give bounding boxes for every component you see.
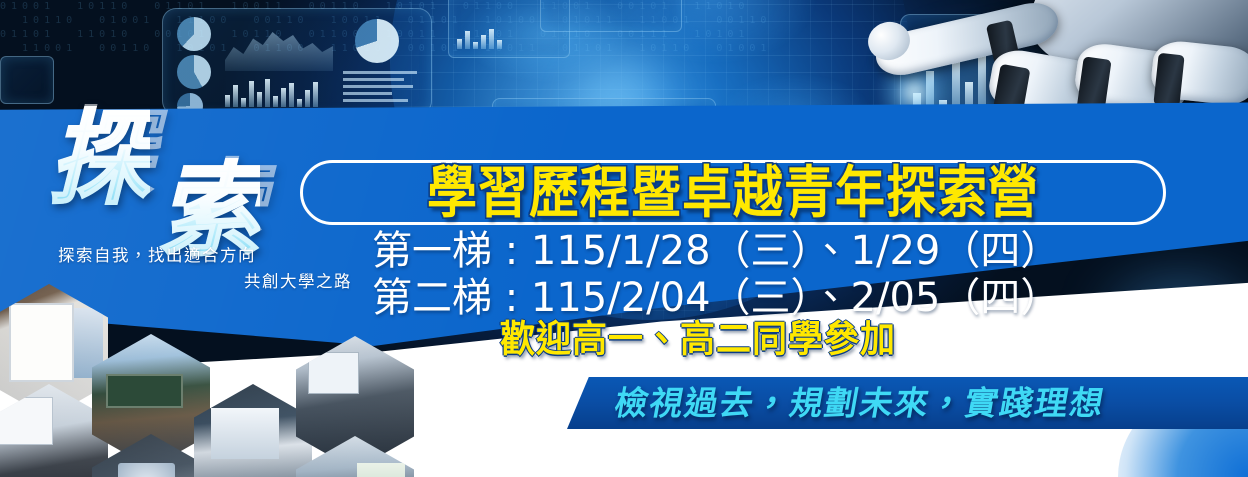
session-line-2: 第二梯 : 115/2/04（三）、2/05（四）	[372, 275, 1172, 322]
pie-chart-icon	[177, 55, 211, 89]
session-line-1: 第一梯 : 115/1/28（三）、1/29（四）	[372, 228, 1172, 275]
tagline: 探索自我，找出適合方向 共創大學之路	[58, 243, 358, 295]
area-chart-graphic	[225, 21, 333, 71]
tagline-line-2: 共創大學之路	[58, 269, 358, 295]
event-banner: 01001 10110 01101 10011 00110 10101 0110…	[0, 0, 1248, 477]
robot-knuckle	[1153, 53, 1184, 107]
display-title-char-1: 探	[48, 106, 150, 210]
main-title: 學習歷程暨卓越青年探索營	[427, 165, 1039, 221]
hud-panel-small	[0, 56, 54, 104]
collage-photo	[194, 384, 312, 477]
slogan-text: 檢視過去，規劃未來，實踐理想	[612, 387, 1108, 420]
donut-chart-icon	[355, 19, 399, 63]
text-lines-graphic	[343, 71, 417, 102]
hud-panel-small	[540, 0, 682, 32]
main-title-pill: 學習歷程暨卓越青年探索營	[300, 160, 1166, 225]
welcome-note: 歡迎高一、高二同學參加	[500, 320, 896, 361]
pie-chart-icon	[177, 17, 211, 51]
bar-chart-graphic	[225, 79, 318, 107]
bar-chart-graphic	[457, 29, 502, 49]
hud-dashboard-panel	[162, 8, 432, 115]
session-list: 第一梯 : 115/1/28（三）、1/29（四） 第二梯 : 115/2/04…	[372, 228, 1172, 322]
slogan-ribbon: 檢視過去，規劃未來，實踐理想	[567, 377, 1248, 429]
tagline-line-1: 探索自我，找出適合方向	[58, 246, 256, 265]
